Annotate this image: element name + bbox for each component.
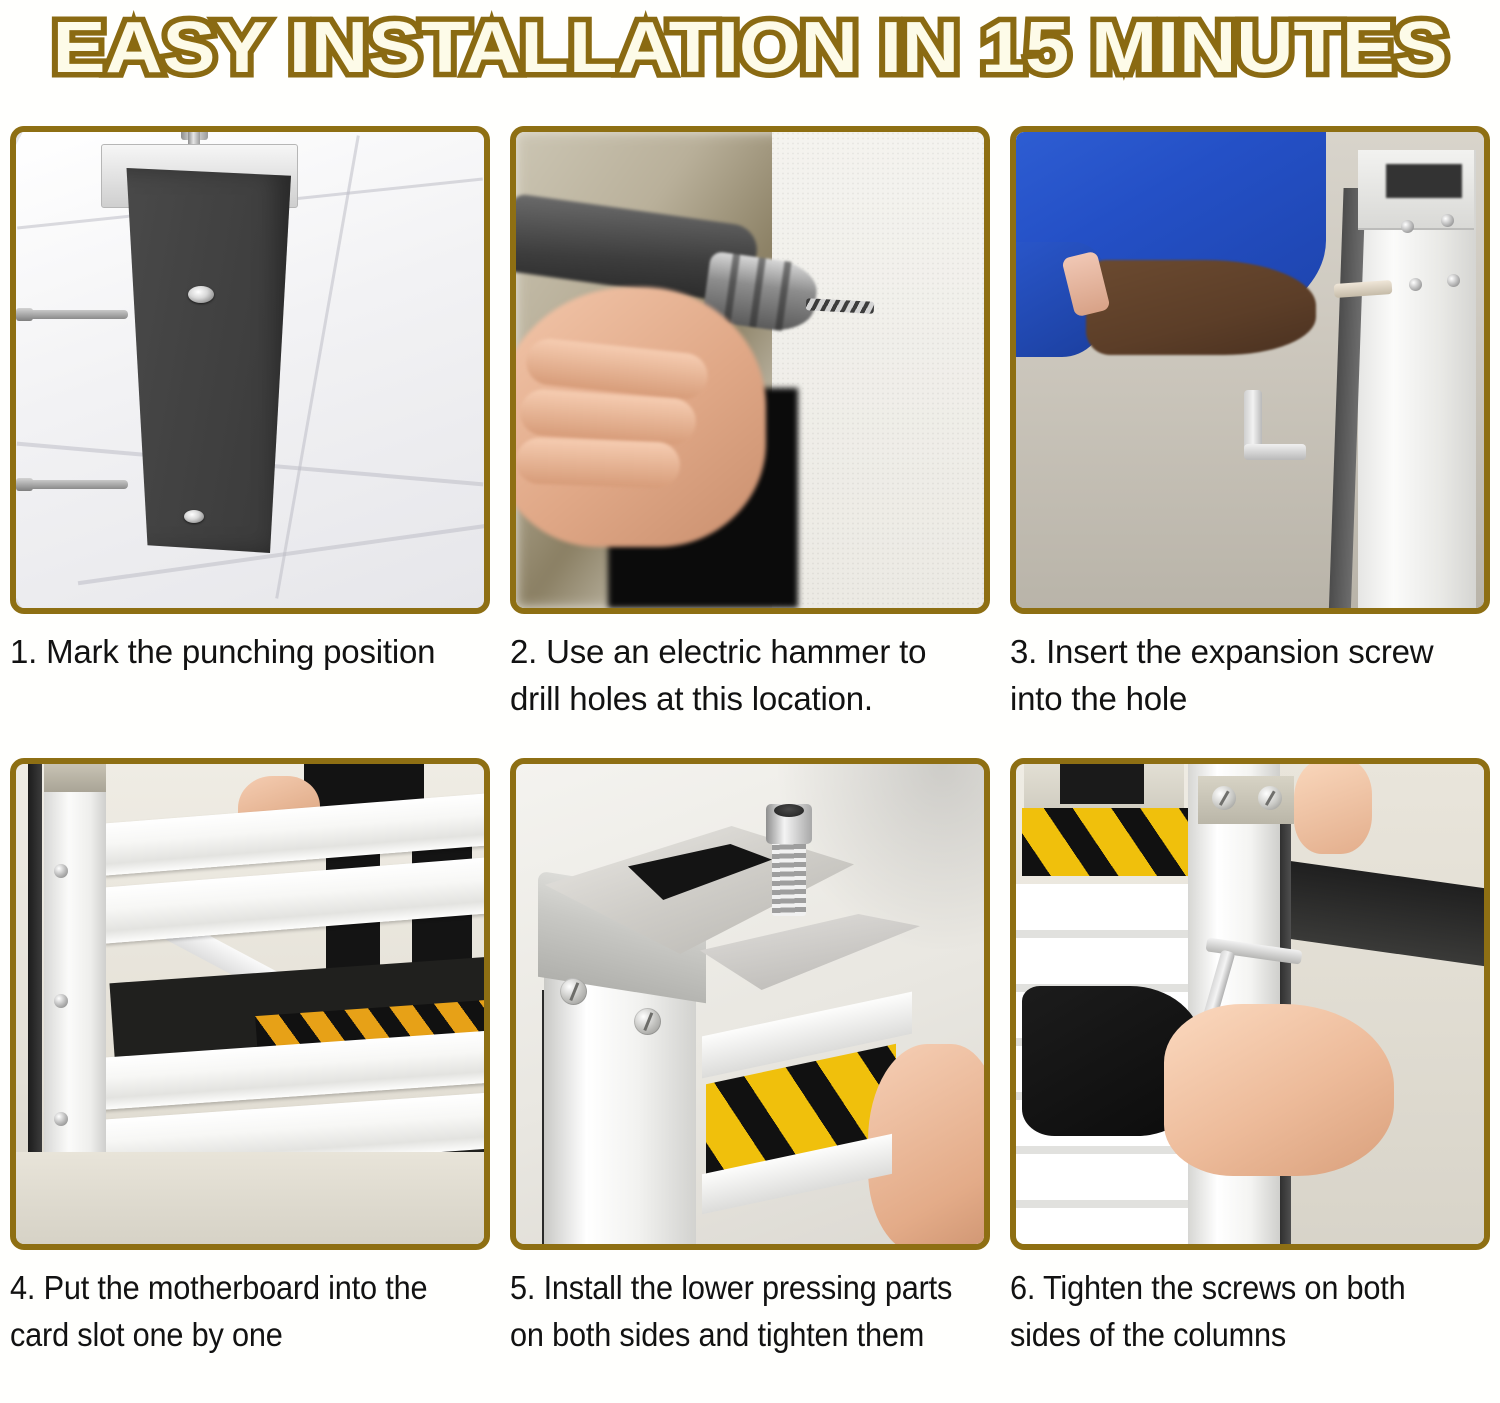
- forearm: [1086, 260, 1316, 355]
- step-caption-4: 4. Put the motherboard into the card slo…: [10, 1264, 480, 1358]
- step-photo-6-image: [1016, 764, 1484, 1244]
- cap-screw: [1401, 220, 1414, 233]
- step-caption-1: 1. Mark the punching position: [10, 628, 480, 675]
- column-screw: [54, 994, 68, 1008]
- step-caption-5: 5. Install the lower pressing parts on b…: [510, 1264, 980, 1358]
- step-photo-3-image: [1016, 132, 1484, 608]
- mounting-hole-lower: [184, 510, 204, 523]
- side-bolt-upper: [20, 310, 128, 319]
- step-photo-4-image: [16, 764, 484, 1244]
- column-screw: [1212, 786, 1236, 810]
- step-photo-4: [10, 758, 490, 1250]
- cap-screw: [1441, 214, 1454, 227]
- step-photo-5-image: [516, 764, 984, 1244]
- column-screw: [1447, 274, 1460, 287]
- step-caption-2: 2. Use an electric hammer to drill holes…: [510, 628, 980, 722]
- bracket-screw: [634, 1008, 661, 1035]
- step-card-5: 5. Install the lower pressing parts on b…: [500, 758, 1000, 1403]
- column-screw: [1258, 786, 1282, 810]
- column-bracket: [44, 764, 106, 792]
- steps-row-bottom: 4. Put the motherboard into the card slo…: [0, 758, 1500, 1403]
- worker-hand: [1164, 1004, 1394, 1176]
- bracket-screw: [560, 978, 587, 1005]
- step-caption-3: 3. Insert the expansion screw into the h…: [1010, 628, 1480, 722]
- side-bolt-lower-cap: [16, 478, 33, 491]
- column-screw: [1409, 278, 1422, 291]
- bolt-shaft: [772, 832, 806, 916]
- step-photo-3: [1010, 126, 1490, 614]
- side-bolt-upper-cap: [16, 308, 33, 321]
- steps-row-top: 1. Mark the punching position: [0, 126, 1500, 766]
- mounting-hole-upper: [188, 286, 214, 303]
- step-card-3: 3. Insert the expansion screw into the h…: [1000, 126, 1500, 766]
- white-column: [544, 964, 696, 1244]
- allen-key-arm: [1244, 444, 1306, 460]
- column-dark-edge: [28, 764, 42, 1194]
- step-photo-2: [510, 126, 990, 614]
- step-photo-2-image: [516, 132, 984, 608]
- hazard-stripe: [1022, 808, 1194, 876]
- steps-grid: 1. Mark the punching position: [0, 96, 1500, 1403]
- finger: [516, 437, 681, 489]
- side-bolt-lower: [20, 480, 128, 489]
- column-screw: [54, 864, 68, 878]
- column-screw: [54, 1112, 68, 1126]
- textured-white-wall: [772, 132, 984, 608]
- floor: [16, 1152, 484, 1244]
- step-photo-1-image: [16, 132, 484, 608]
- step-card-4: 4. Put the motherboard into the card slo…: [0, 758, 500, 1403]
- column-cap-recess: [1386, 164, 1462, 198]
- step-photo-6: [1010, 758, 1490, 1250]
- bolt-socket-hole: [774, 804, 804, 817]
- worker-hand-upper: [1294, 764, 1372, 854]
- step-photo-1: [10, 126, 490, 614]
- chuck-band: [775, 261, 792, 331]
- step-card-2: 2. Use an electric hammer to drill holes…: [500, 126, 1000, 766]
- chuck-band: [749, 257, 766, 327]
- chuck-band: [723, 254, 740, 324]
- header-banner: EASY INSTALLATION IN 15 MINUTES: [0, 0, 1500, 96]
- step-card-6: 6. Tighten the screws on both sides of t…: [1000, 758, 1500, 1403]
- step-photo-5: [510, 758, 990, 1250]
- step-card-1: 1. Mark the punching position: [0, 126, 500, 766]
- upper-frame-recess: [1060, 764, 1144, 804]
- page-title: EASY INSTALLATION IN 15 MINUTES: [53, 10, 1448, 86]
- step-caption-6: 6. Tighten the screws on both sides of t…: [1010, 1264, 1480, 1358]
